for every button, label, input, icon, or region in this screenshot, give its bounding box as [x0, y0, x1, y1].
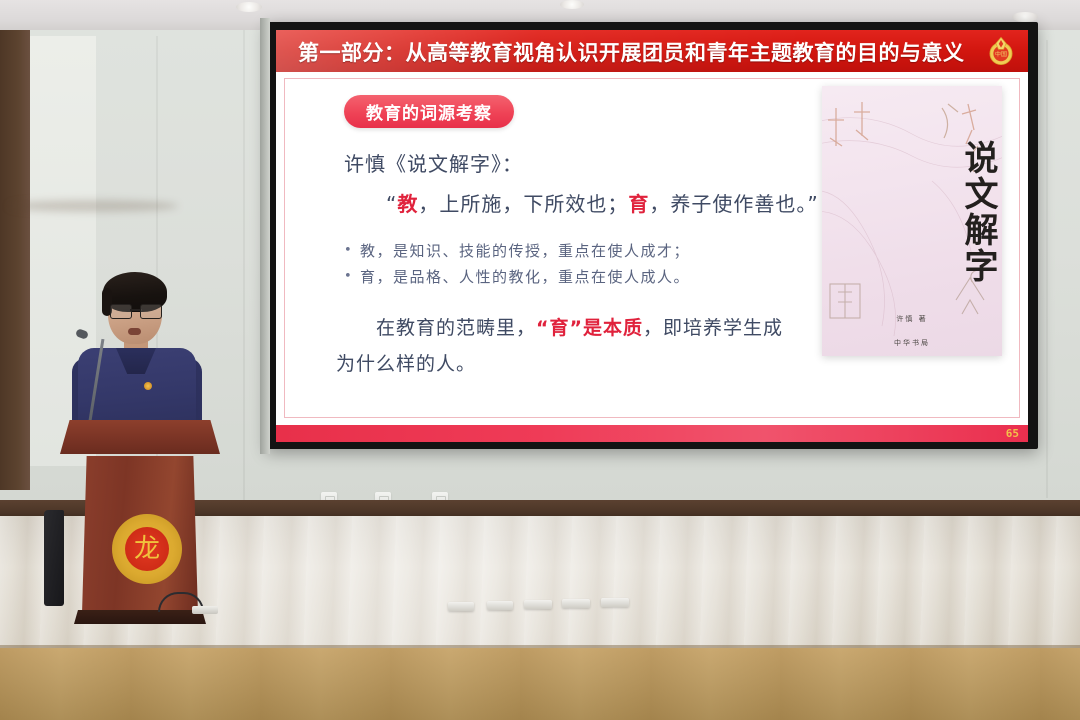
podium-base — [74, 610, 206, 624]
seal-glyph: 龙 — [134, 536, 160, 562]
bullet-text: 育，是品格、人性的教化，重点在使人成人。 — [360, 264, 690, 290]
quote-close: ” — [807, 192, 818, 216]
podium-shadow — [8, 200, 178, 212]
book-cover-image: 说文解字 许慎 著 中华书局 — [822, 86, 1002, 356]
quote-source-text: 许慎《说文解字》： — [344, 148, 523, 177]
floor-socket-plate[interactable] — [524, 600, 552, 609]
quote-open: “ — [386, 192, 397, 216]
conclusion-text: 在教育的范畴里，“育”是本质，即培养学生成为什么样的人。 — [336, 310, 796, 382]
book-author-text: 许慎 著 — [822, 314, 1002, 324]
podium-top-surface — [60, 420, 220, 454]
bullet-marker: • — [344, 264, 360, 290]
page-number: 65 — [1006, 427, 1019, 440]
slide-canvas: 第一部分：从高等教育视角认识开展团员和青年主题教育的目的与意义 中国 教育的词源… — [276, 30, 1028, 442]
slide-footer-bar: 65 — [276, 425, 1028, 442]
glasses-left-lens — [110, 304, 132, 319]
quote-highlight-jiao: 教 — [397, 192, 418, 216]
quote-text: “教，上所施，下所效也；育，养子使作善也。” — [386, 188, 819, 217]
floor-socket-plate[interactable] — [487, 601, 513, 610]
quote-highlight-yu: 育 — [628, 192, 649, 216]
speaker-mouth — [128, 328, 141, 335]
left-wall-panel-dark — [0, 30, 30, 490]
floor-socket-plate[interactable] — [601, 598, 629, 607]
photo-scene: 第一部分：从高等教育视角认识开展团员和青年主题教育的目的与意义 中国 教育的词源… — [0, 0, 1080, 720]
conclusion-highlight: “育”是本质 — [536, 317, 643, 339]
glasses-icon — [110, 304, 162, 317]
list-item: • 教，是知识、技能的传授，重点在使人成才； — [344, 238, 690, 264]
glasses-right-lens — [140, 304, 162, 319]
bullet-marker: • — [344, 238, 360, 264]
wall-seam — [1046, 40, 1048, 498]
quote-mid-2: ，养子使作善也。 — [649, 192, 807, 216]
ceiling-downlight — [560, 0, 584, 9]
ceiling-downlight — [236, 2, 262, 12]
lapel-pin-icon — [144, 382, 152, 390]
quote-mid-1: ，上所施，下所效也； — [418, 192, 628, 216]
floor-front-strip — [0, 648, 1080, 720]
ceiling-downlight — [1012, 12, 1038, 22]
svg-text:中国: 中国 — [995, 50, 1007, 58]
communist-youth-league-emblem-icon: 中国 — [984, 34, 1018, 68]
cable-floor-plate[interactable] — [192, 606, 218, 614]
projection-screen[interactable]: 第一部分：从高等教育视角认识开展团员和青年主题教育的目的与意义 中国 教育的词源… — [266, 22, 1038, 449]
list-item: • 育，是品格、人性的教化，重点在使人成人。 — [344, 264, 690, 290]
university-seal-icon: 龙 — [112, 514, 182, 584]
slide-title: 第一部分：从高等教育视角认识开展团员和青年主题教育的目的与意义 — [298, 37, 958, 67]
floor-socket-plate[interactable] — [448, 602, 474, 611]
wall-seam — [243, 30, 245, 500]
book-publisher-text: 中华书局 — [822, 338, 1002, 348]
bullet-list: • 教，是知识、技能的传授，重点在使人成才； • 育，是品格、人性的教化，重点在… — [344, 238, 690, 290]
floor-socket-plate[interactable] — [562, 599, 590, 608]
conclusion-pre: 在教育的范畴里， — [336, 317, 536, 339]
book-title-text: 说文解字 — [822, 112, 1002, 312]
slide-section-heading: 教育的词源考察 — [344, 95, 514, 128]
bullet-text: 教，是知识、技能的传授，重点在使人成才； — [360, 238, 690, 264]
